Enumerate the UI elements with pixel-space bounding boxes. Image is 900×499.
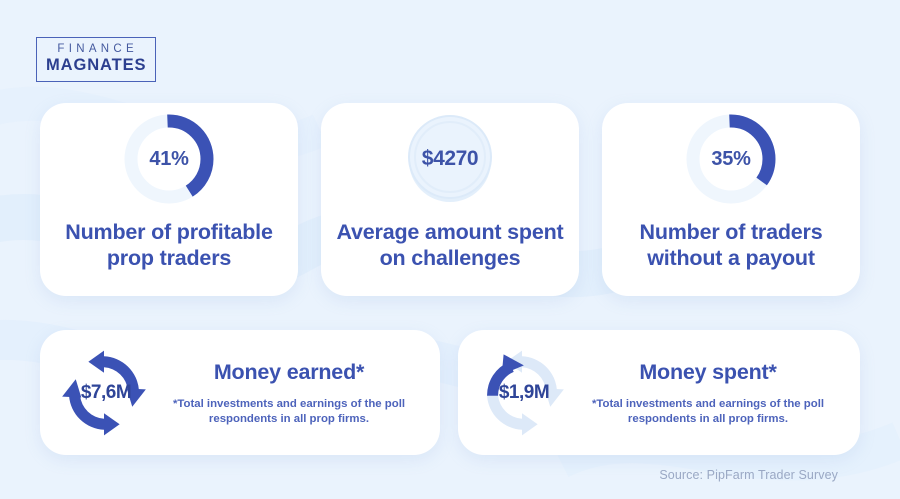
- money-card-spent: $1,9M Money spent* *Total investments an…: [458, 330, 860, 455]
- source-attribution: Source: PipFarm Trader Survey: [659, 468, 838, 482]
- money-text-block: Money earned* *Total investments and ear…: [150, 359, 424, 427]
- money-card-label: Money earned*: [154, 359, 424, 385]
- coin-graphic: $4270: [402, 111, 498, 207]
- money-card-earned: $7,6M Money earned* *Total investments a…: [40, 330, 440, 455]
- money-card-inner: $7,6M Money earned* *Total investments a…: [40, 330, 440, 455]
- donut-chart-35: 35%: [685, 113, 777, 205]
- money-amount-label: $1,9M: [476, 347, 568, 439]
- money-text-block: Money spent* *Total investments and earn…: [568, 359, 844, 427]
- money-amount-label: $7,6M: [58, 347, 150, 439]
- stat-visual: 35%: [602, 103, 860, 207]
- money-card-inner: $1,9M Money spent* *Total investments an…: [458, 330, 860, 455]
- money-card-label: Money spent*: [572, 359, 844, 385]
- stat-card-title: Number of profitable prop traders: [40, 219, 298, 271]
- stat-card-without-payout: 35% Number of traders without a payout: [602, 103, 860, 296]
- donut-value-label: 41%: [123, 113, 215, 205]
- logo-finance-text: FINANCE: [46, 43, 146, 56]
- money-card-note: *Total investments and earnings of the p…: [154, 397, 424, 427]
- brand-logo[interactable]: FINANCE MAGNATES: [36, 37, 156, 82]
- donut-value-label: 35%: [685, 113, 777, 205]
- logo-magnates-text: MAGNATES: [46, 56, 146, 75]
- money-icon-wrap: $1,9M: [476, 347, 568, 439]
- stat-card-title: Average amount spent on challenges: [321, 219, 579, 271]
- donut-chart-41: 41%: [123, 113, 215, 205]
- stat-visual: 41%: [40, 103, 298, 207]
- logo-box: FINANCE MAGNATES: [36, 37, 156, 82]
- money-card-note: *Total investments and earnings of the p…: [572, 397, 844, 427]
- stat-visual: $4270: [321, 103, 579, 207]
- money-icon-wrap: $7,6M: [58, 347, 150, 439]
- stat-card-profitable-traders: 41% Number of profitable prop traders: [40, 103, 298, 296]
- stat-card-title: Number of traders without a payout: [602, 219, 860, 271]
- stat-card-average-spent: $4270 Average amount spent on challenges: [321, 103, 579, 296]
- coin-value-label: $4270: [402, 111, 498, 207]
